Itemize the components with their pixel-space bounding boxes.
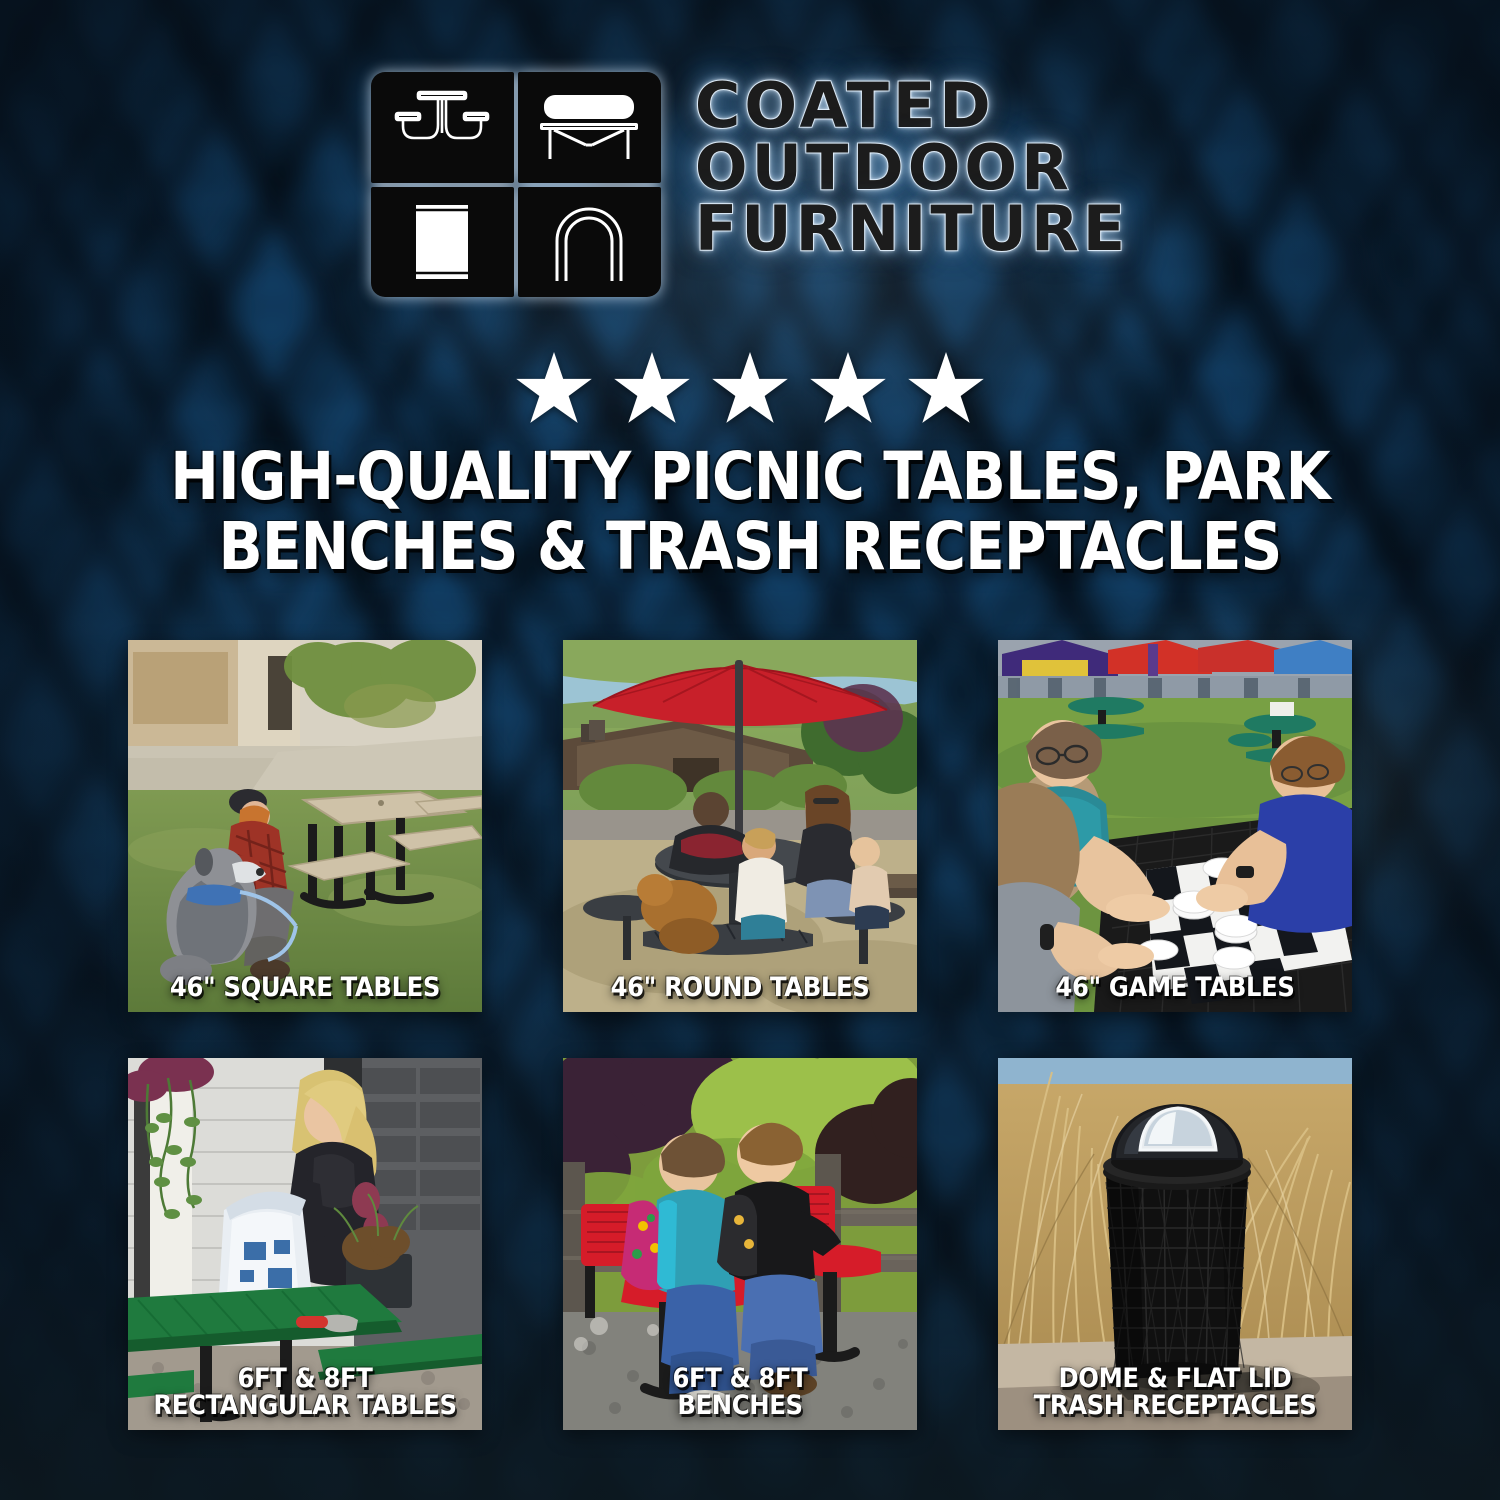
product-cell-round-tables[interactable]: 46" ROUND TABLES: [563, 640, 917, 1012]
picnic-table-icon: [371, 72, 514, 183]
brand-line-1: COATED: [695, 76, 1129, 136]
product-cell-game-tables[interactable]: 46" GAME TABLES: [998, 640, 1352, 1012]
promotional-banner: COATED OUTDOOR FURNITURE HIGH-QUALITY PI…: [0, 0, 1500, 1500]
product-cell-trash-receptacles[interactable]: DOME & FLAT LID TRASH RECEPTACLES: [998, 1058, 1352, 1430]
logo-mark: [371, 72, 661, 297]
photo-square-tables: [128, 640, 482, 1012]
product-cell-benches[interactable]: 6FT & 8FT BENCHES: [563, 1058, 917, 1430]
star-icon: [515, 352, 593, 426]
star-icon: [613, 352, 691, 426]
product-category-grid: 46" SQUARE TABLES: [128, 640, 1372, 1430]
photo-benches: [563, 1058, 917, 1430]
brand-line-3: FURNITURE: [695, 199, 1129, 259]
bike-rack-icon: [518, 187, 661, 298]
photo-game-tables: [998, 640, 1352, 1012]
headline-line-2: BENCHES & TRASH RECEPTACLES: [125, 512, 1375, 582]
photo-rectangular-tables: [128, 1058, 482, 1430]
brand-logo: COATED OUTDOOR FURNITURE: [0, 72, 1500, 297]
product-cell-square-tables[interactable]: 46" SQUARE TABLES: [128, 640, 482, 1012]
page-title: HIGH-QUALITY PICNIC TABLES, PARK BENCHES…: [90, 442, 1410, 582]
photo-round-tables: [563, 640, 917, 1012]
star-rating: [0, 352, 1500, 426]
trash-receptacle-icon: [371, 187, 514, 298]
brand-wordmark: COATED OUTDOOR FURNITURE: [695, 72, 1129, 259]
star-icon: [907, 352, 985, 426]
star-icon: [711, 352, 789, 426]
park-bench-icon: [518, 72, 661, 183]
headline-line-1: HIGH-QUALITY PICNIC TABLES, PARK: [125, 442, 1375, 512]
photo-trash-receptacles: [998, 1058, 1352, 1430]
star-icon: [809, 352, 887, 426]
product-cell-rectangular-tables[interactable]: 6FT & 8FT RECTANGULAR TABLES: [128, 1058, 482, 1430]
brand-line-2: OUTDOOR: [695, 138, 1129, 198]
